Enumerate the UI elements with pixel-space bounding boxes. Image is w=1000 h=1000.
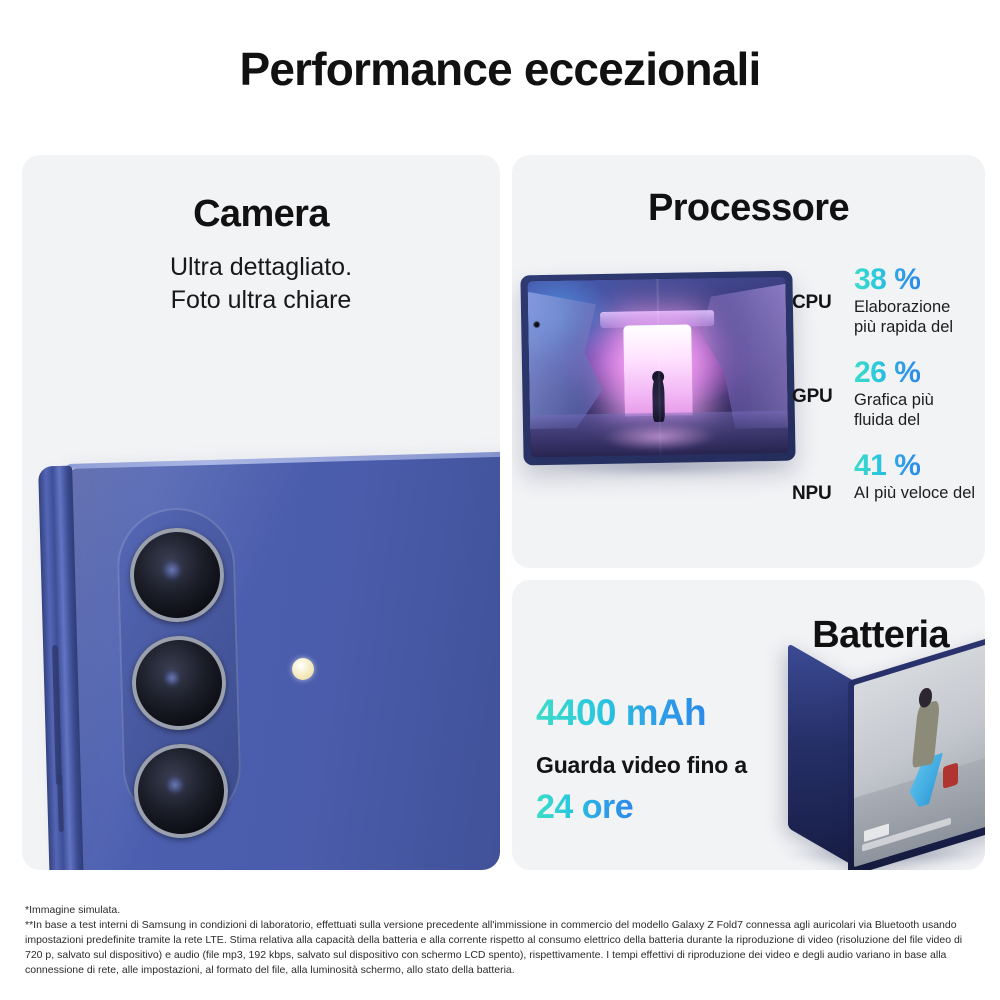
tent-panel-right xyxy=(848,635,985,870)
stat-value-cpu-text: 38 % xyxy=(854,263,920,296)
foldable-device-tent-mode xyxy=(770,640,985,870)
camera-lens-bottom-glint xyxy=(164,774,186,796)
tent-screen xyxy=(854,643,985,867)
camera-subtitle-line-2: Foto ultra chiare xyxy=(22,284,500,317)
front-camera-icon xyxy=(533,321,540,328)
stat-label-npu: NPU xyxy=(792,483,832,505)
stat-row-gpu: GPU 26 % Grafica più fluida del xyxy=(792,356,985,449)
battery-capacity: 4400 mAh xyxy=(536,692,706,734)
stat-value-cpu: 38 % xyxy=(854,263,920,297)
battery-hours-text: 24 ore xyxy=(536,788,633,826)
battery-card: Batteria 4400 mAh Guarda video fino a 24… xyxy=(512,580,985,870)
stat-value-gpu: 26 % xyxy=(854,356,920,390)
battery-capacity-text: 4400 mAh xyxy=(536,692,706,733)
footnote-line-1: *Immagine simulata. xyxy=(25,903,975,918)
stat-value-npu-text: 41 % xyxy=(854,449,920,482)
stat-desc-npu: AI più veloce del xyxy=(854,483,985,503)
camera-lens-top-glint xyxy=(160,558,184,582)
stat-desc-cpu-line-2: più rapida del xyxy=(854,317,985,337)
page-title: Performance eccezionali xyxy=(0,42,1000,96)
stat-desc-gpu: Grafica più fluida del xyxy=(854,390,985,431)
camera-lens-middle-glint xyxy=(162,668,182,688)
stat-value-gpu-text: 26 % xyxy=(854,356,920,389)
battery-hours: 24 ore xyxy=(536,788,633,827)
stat-desc-gpu-line-1: Grafica più xyxy=(854,390,985,410)
stat-desc-cpu-line-1: Elaborazione xyxy=(854,297,985,317)
stat-label-gpu: GPU xyxy=(792,386,833,408)
footnotes: *Immagine simulata. **In base a test int… xyxy=(25,903,975,978)
phone-illustration xyxy=(22,440,500,870)
stat-desc-gpu-line-2: fluida del xyxy=(854,410,985,430)
stat-label-cpu: CPU xyxy=(792,292,832,314)
camera-card: Camera Ultra dettagliato. Foto ultra chi… xyxy=(22,155,500,870)
processor-heading: Processore xyxy=(512,187,985,230)
stat-row-cpu: CPU 38 % Elaborazione più rapida del xyxy=(792,263,985,356)
processor-stats-list: CPU 38 % Elaborazione più rapida del GPU… xyxy=(792,263,985,542)
tent-panel-left xyxy=(788,643,854,866)
stat-desc-npu-line-1: AI più veloce del xyxy=(854,483,985,503)
foldable-frame xyxy=(520,271,795,466)
camera-subtitle-line-1: Ultra dettagliato. xyxy=(22,251,500,284)
foldable-screen xyxy=(527,277,788,457)
stat-desc-cpu: Elaborazione più rapida del xyxy=(854,297,985,338)
footnote-line-2: **In base a test interni di Samsung in c… xyxy=(25,918,975,978)
battery-subtitle: Guarda video fino a xyxy=(536,752,747,779)
camera-subtitle: Ultra dettagliato. Foto ultra chiare xyxy=(22,251,500,318)
stat-value-npu: 41 % xyxy=(854,449,920,483)
processor-card: Processore xyxy=(512,155,985,568)
camera-heading: Camera xyxy=(22,193,500,236)
stat-row-npu: NPU 41 % AI più veloce del xyxy=(792,449,985,542)
foldable-device-open xyxy=(520,271,795,466)
infographic-page: Performance eccezionali Camera Ultra det… xyxy=(0,0,1000,1000)
